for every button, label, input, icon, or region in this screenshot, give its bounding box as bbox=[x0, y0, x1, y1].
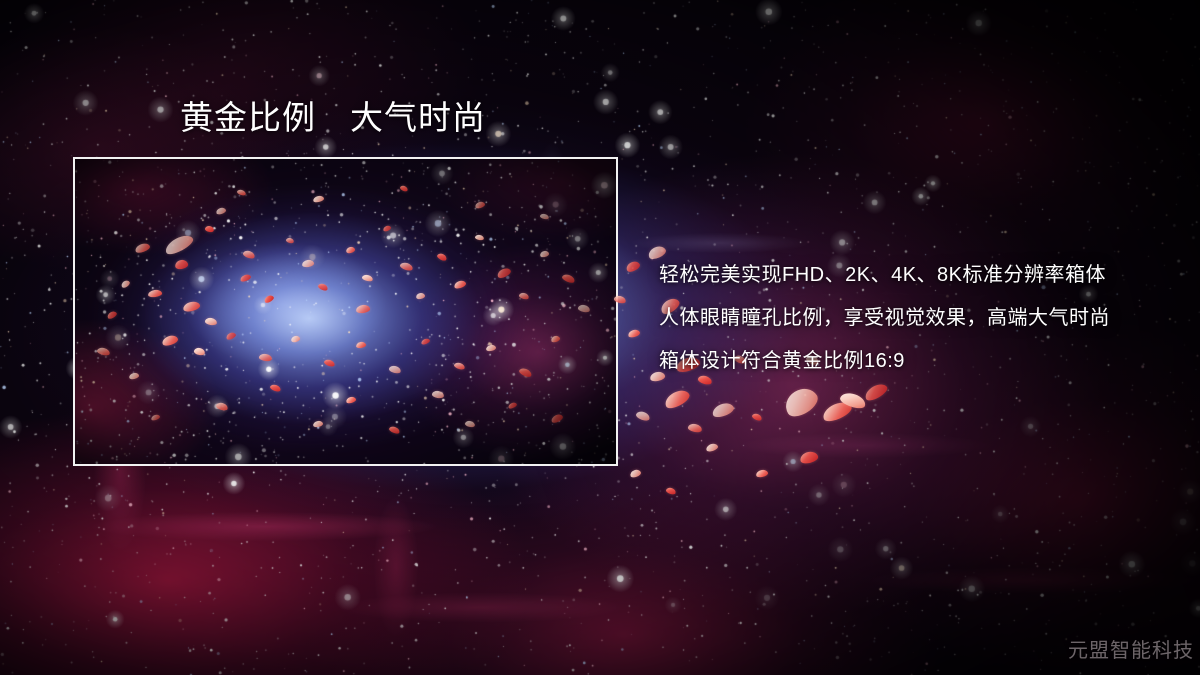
body-line-2: 人体眼睛瞳孔比例，享受视觉效果，高端大气时尚 bbox=[659, 297, 1179, 340]
petal bbox=[705, 442, 719, 452]
petal bbox=[839, 390, 868, 410]
page-title: 黄金比例 大气时尚 bbox=[180, 100, 486, 136]
petal bbox=[627, 328, 640, 338]
petal bbox=[665, 487, 676, 496]
petal bbox=[863, 381, 890, 403]
body-line-1: 轻松完美实现FHD、2K、4K、8K标准分辨率箱体 bbox=[659, 254, 1179, 297]
petal bbox=[687, 423, 702, 434]
body-line-3: 箱体设计符合黄金比例16:9 bbox=[659, 340, 1179, 383]
petal bbox=[780, 383, 822, 421]
petal bbox=[755, 469, 768, 478]
petal bbox=[820, 399, 854, 425]
petal bbox=[629, 468, 642, 478]
petal bbox=[662, 387, 692, 412]
watermark: 元盟智能科技 bbox=[1068, 634, 1194, 663]
body-copy: 轻松完美实现FHD、2K、4K、8K标准分辨率箱体 人体眼睛瞳孔比例，享受视觉效… bbox=[659, 254, 1179, 383]
presentation-slide: 黄金比例 大气时尚 轻松完美实现FHD、2K、4K、8K标准分辨率箱体 人体眼睛… bbox=[0, 0, 1200, 675]
petal bbox=[799, 450, 819, 465]
petal bbox=[625, 259, 642, 273]
petal bbox=[711, 401, 736, 420]
framed-image-content bbox=[75, 159, 616, 464]
framed-image-panel bbox=[73, 157, 618, 466]
framed-nebula-art bbox=[75, 159, 616, 464]
petal bbox=[635, 410, 651, 422]
petal bbox=[751, 412, 763, 422]
